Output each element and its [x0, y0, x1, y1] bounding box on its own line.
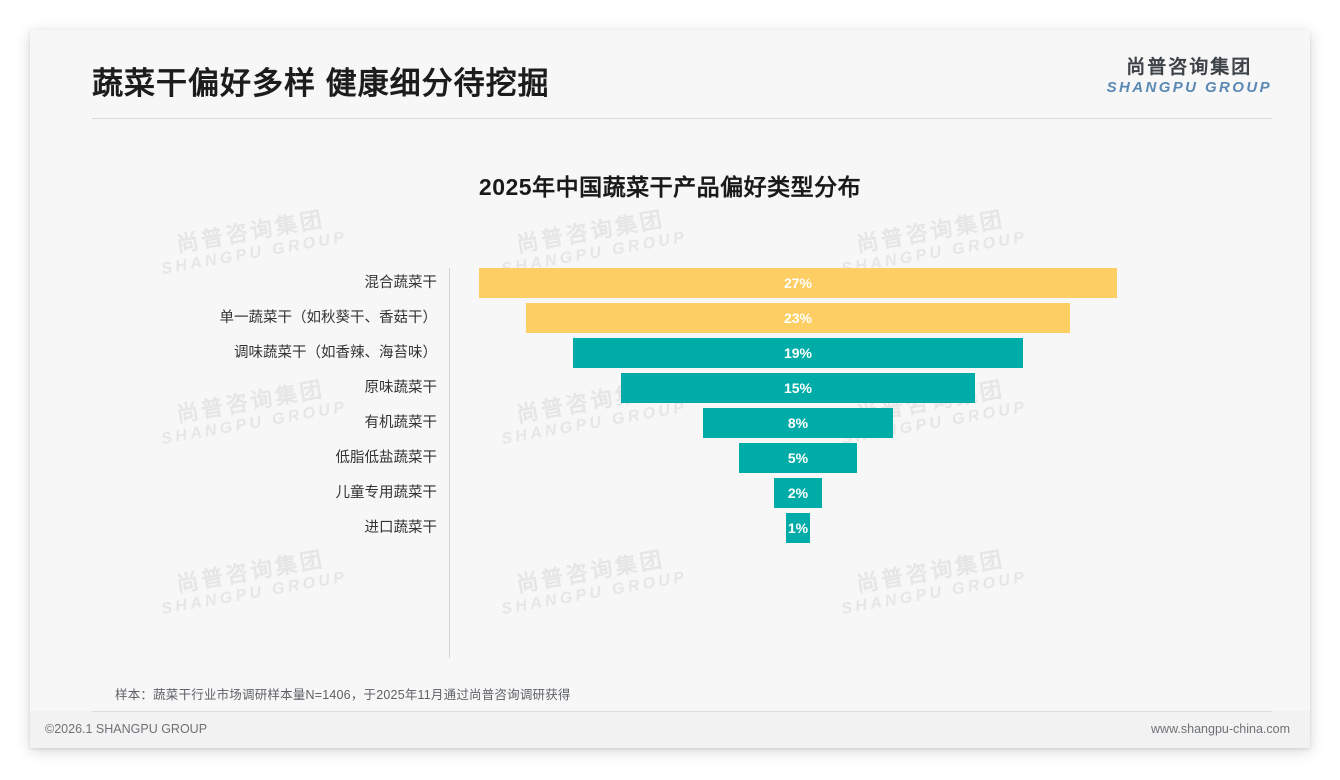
slide-footer: ©2026.1 SHANGPU GROUP www.shangpu-china.… — [30, 711, 1310, 748]
chart-row: 进口蔬菜干1% — [30, 513, 1310, 543]
chart-row: 单一蔬菜干（如秋葵干、香菇干）23% — [30, 303, 1310, 333]
funnel-bar[interactable]: 2% — [774, 478, 821, 508]
category-label: 低脂低盐蔬菜干 — [336, 443, 438, 473]
chart-title: 2025年中国蔬菜干产品偏好类型分布 — [30, 168, 1310, 202]
category-label: 原味蔬菜干 — [365, 373, 438, 403]
chart-row: 调味蔬菜干（如香辣、海苔味）19% — [30, 338, 1310, 368]
chart-row: 儿童专用蔬菜干2% — [30, 478, 1310, 508]
brand-logo-en: SHANGPU GROUP — [1107, 80, 1272, 96]
category-label: 儿童专用蔬菜干 — [336, 478, 438, 508]
footer-copyright: ©2026.1 SHANGPU GROUP — [45, 722, 207, 736]
chart-row: 有机蔬菜干8% — [30, 408, 1310, 438]
footer-website[interactable]: www.shangpu-china.com — [1151, 722, 1290, 736]
footer-divider — [92, 711, 1272, 712]
funnel-bar[interactable]: 1% — [786, 513, 810, 543]
category-label: 单一蔬菜干（如秋葵干、香菇干） — [220, 303, 438, 333]
funnel-bar[interactable]: 8% — [703, 408, 892, 438]
chart-row: 混合蔬菜干27% — [30, 268, 1310, 298]
watermark-cn: 尚普咨询集团 — [156, 204, 346, 261]
slide-card: 尚普咨询集团 SHANGPU GROUP 尚普咨询集团 SHANGPU GROU… — [30, 30, 1310, 748]
funnel-bar[interactable]: 5% — [739, 443, 857, 473]
category-label: 调味蔬菜干（如香辣、海苔味） — [234, 338, 437, 368]
funnel-bar[interactable]: 27% — [479, 268, 1118, 298]
source-note: 样本：蔬菜干行业市场调研样本量N=1406，于2025年11月通过尚普咨询调研获… — [115, 684, 571, 703]
slide-header: 蔬菜干偏好多样 健康细分待挖掘 尚普咨询集团 SHANGPU GROUP — [30, 30, 1310, 118]
brand-logo-cn: 尚普咨询集团 — [1107, 58, 1272, 78]
funnel-chart: 混合蔬菜干27%单一蔬菜干（如秋葵干、香菇干）23%调味蔬菜干（如香辣、海苔味）… — [30, 260, 1310, 660]
watermark-cn: 尚普咨询集团 — [496, 204, 686, 261]
watermark-cn: 尚普咨询集团 — [836, 204, 1026, 261]
page-title: 蔬菜干偏好多样 健康细分待挖掘 — [92, 58, 550, 103]
category-label: 有机蔬菜干 — [365, 408, 438, 438]
category-label: 进口蔬菜干 — [365, 513, 438, 543]
chart-row: 低脂低盐蔬菜干5% — [30, 443, 1310, 473]
funnel-bar[interactable]: 19% — [573, 338, 1022, 368]
header-divider — [92, 118, 1272, 119]
brand-logo: 尚普咨询集团 SHANGPU GROUP — [1107, 58, 1272, 96]
funnel-bar[interactable]: 23% — [526, 303, 1070, 333]
funnel-bar[interactable]: 15% — [621, 373, 976, 403]
chart-row: 原味蔬菜干15% — [30, 373, 1310, 403]
category-label: 混合蔬菜干 — [365, 268, 438, 298]
